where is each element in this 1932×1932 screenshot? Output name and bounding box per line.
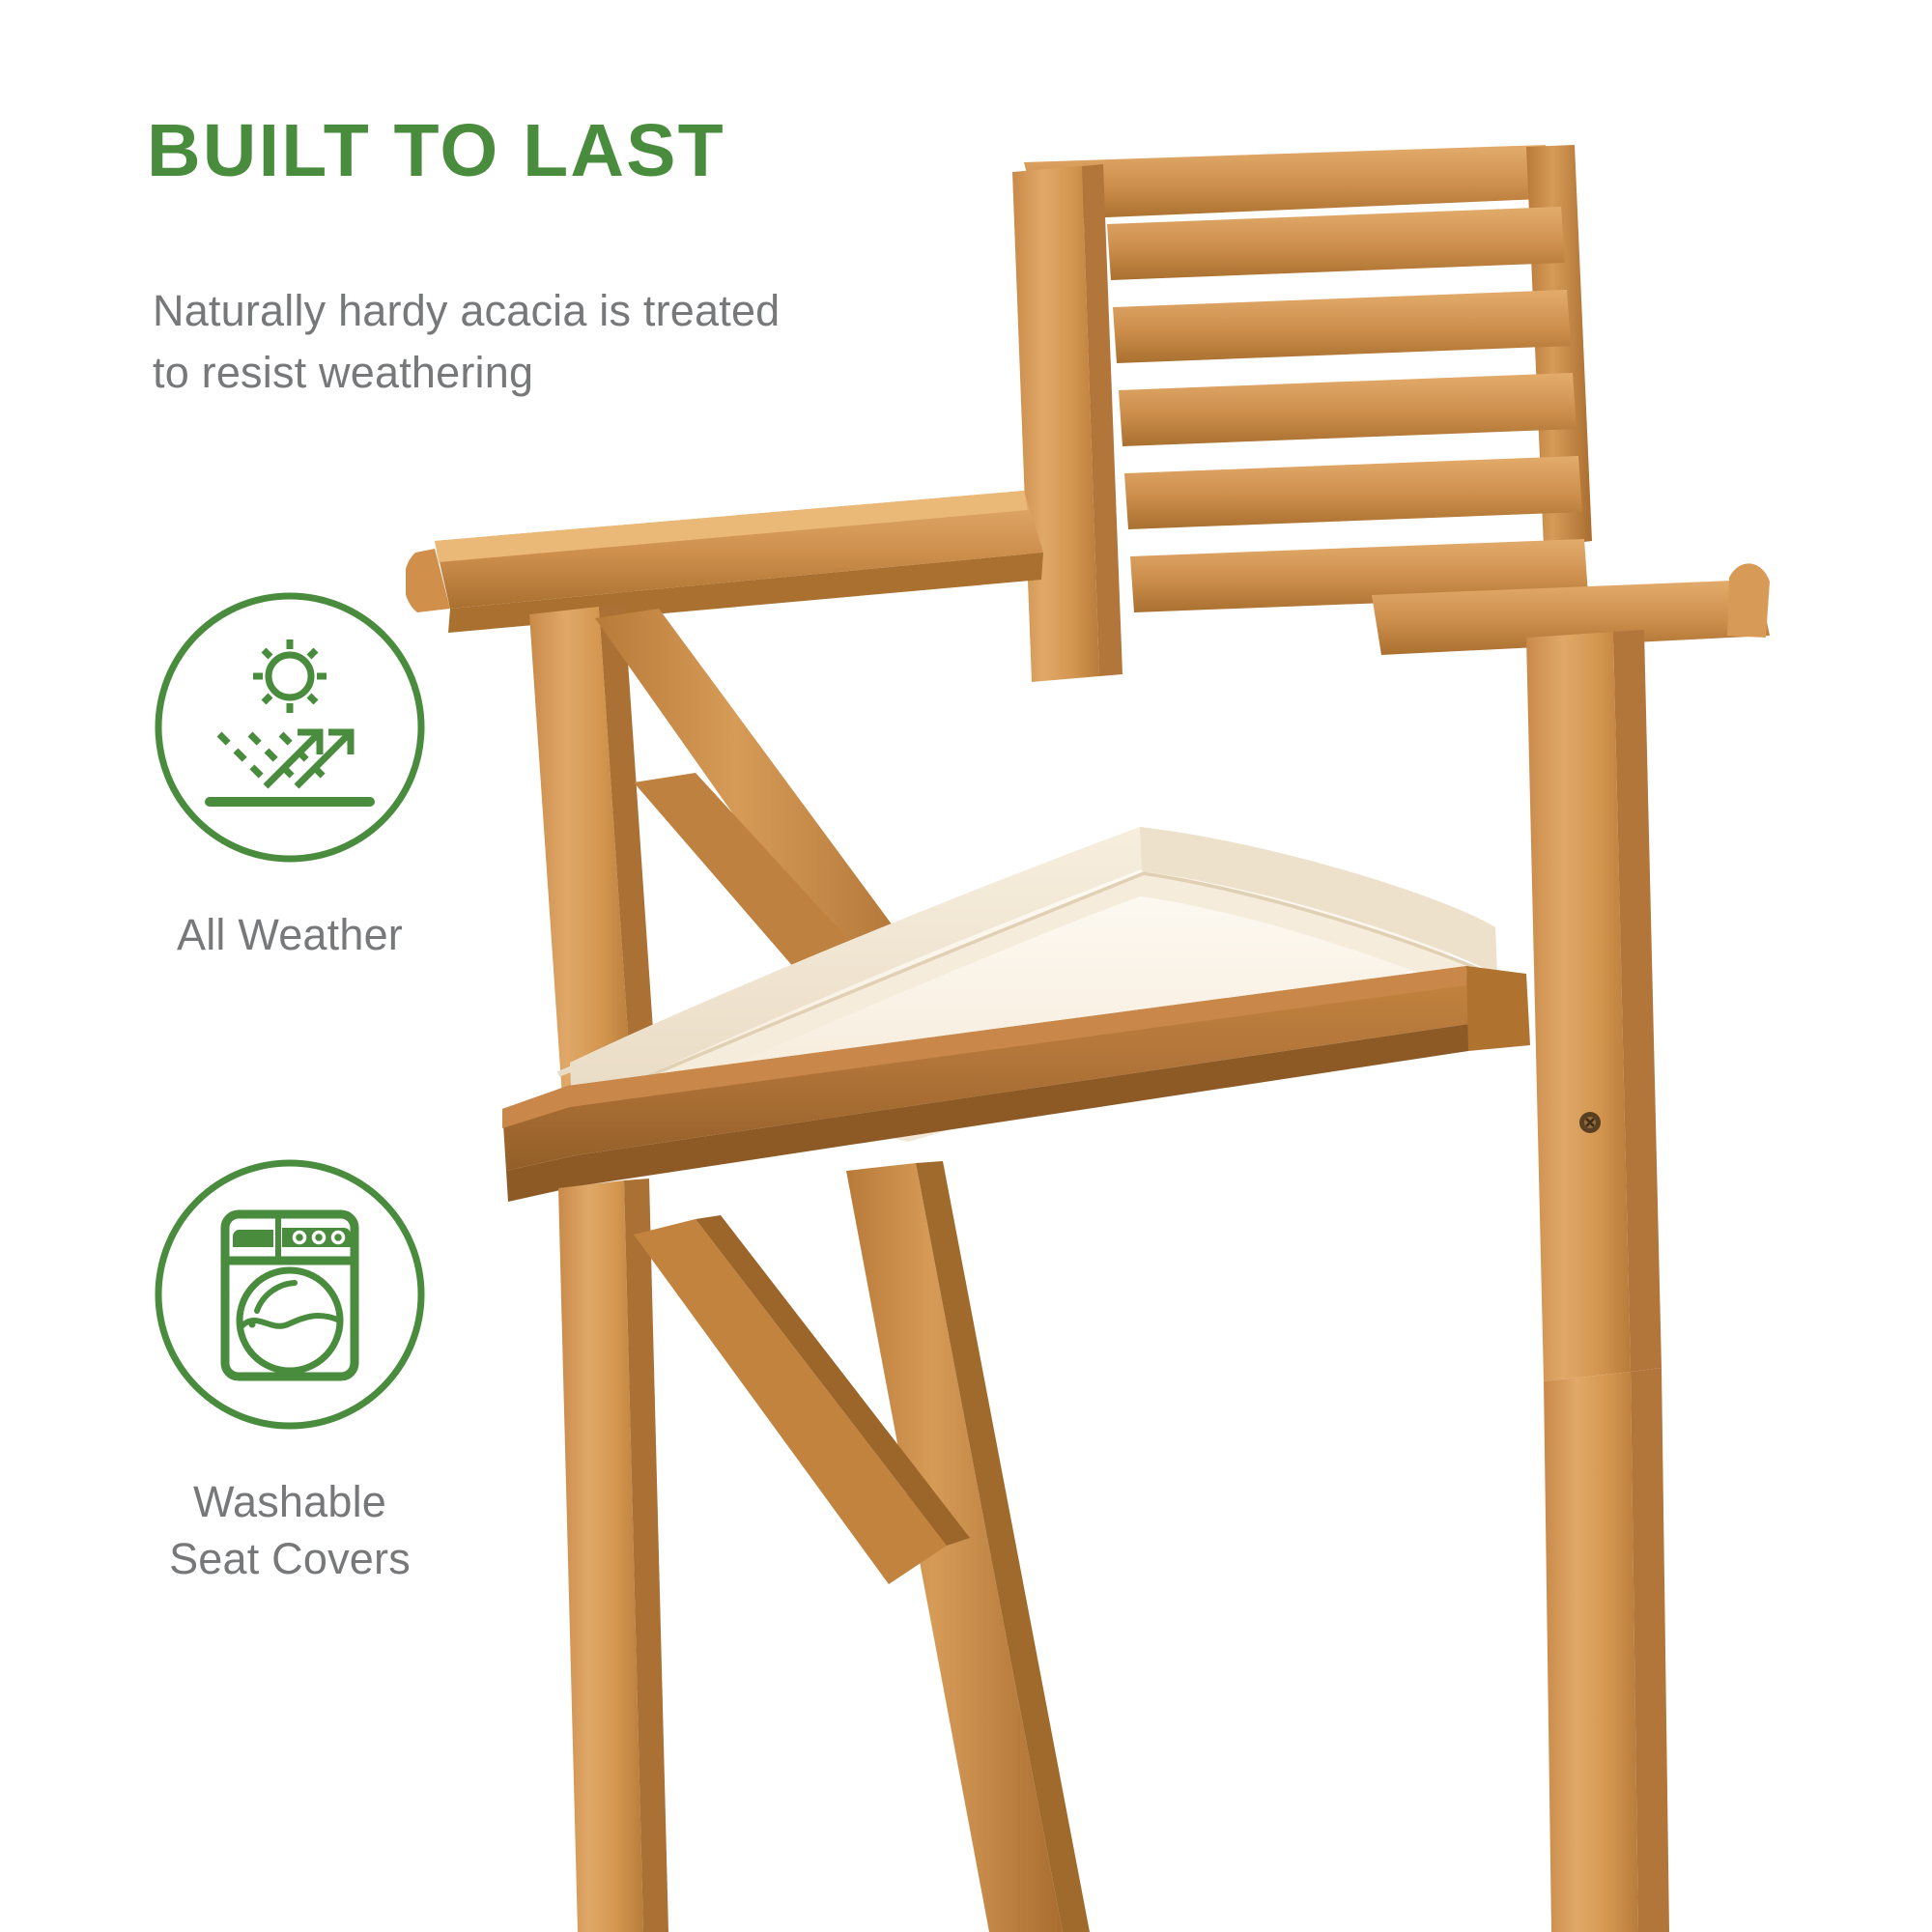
product-feature-infographic: BUILT TO LAST Naturally hardy acacia is … — [0, 0, 1932, 1932]
product-photo-acacia-armchair — [406, 0, 1932, 1932]
washing-machine-icon — [150, 1154, 430, 1435]
all-weather-sun-repel-icon — [150, 587, 430, 867]
